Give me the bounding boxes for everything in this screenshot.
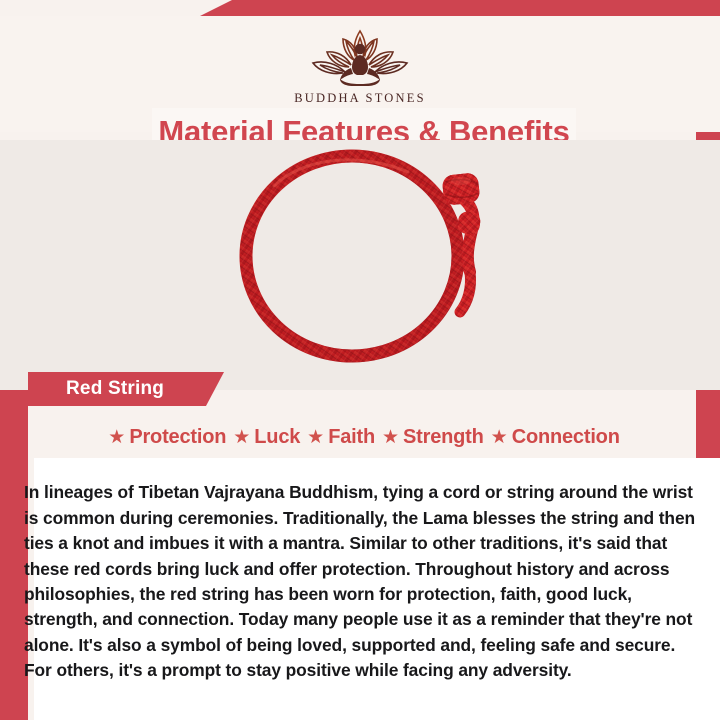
- material-label-banner: Red String: [28, 372, 224, 406]
- benefit-item-luck: ★ Luck: [233, 426, 300, 449]
- benefit-item-strength: ★ Strength: [382, 426, 484, 449]
- brand-name: BUDDHA STONES: [0, 91, 720, 106]
- product-image-panel: [0, 140, 720, 390]
- lotus-meditation-icon: [299, 22, 421, 90]
- benefits-list: ★ Protection ★ Luck ★ Faith ★ Strength ★…: [34, 418, 694, 456]
- benefit-label: Luck: [254, 426, 300, 449]
- benefit-label: Protection: [129, 426, 226, 449]
- benefit-label: Faith: [328, 426, 375, 449]
- brand-logo: BUDDHA STONES: [0, 22, 720, 106]
- star-icon: ★: [491, 428, 508, 447]
- benefit-item-protection: ★ Protection: [108, 426, 226, 449]
- star-icon: ★: [108, 428, 125, 447]
- benefit-item-connection: ★ Connection: [491, 426, 620, 449]
- bracelet-knot: [442, 172, 481, 206]
- description-panel: In lineages of Tibetan Vajrayana Buddhis…: [34, 458, 720, 720]
- benefit-item-faith: ★ Faith: [307, 426, 375, 449]
- poster-header: BUDDHA STONES Material Features & Benefi…: [0, 16, 720, 132]
- infographic-poster: BUDDHA STONES Material Features & Benefi…: [0, 0, 720, 720]
- benefit-label: Connection: [512, 426, 620, 449]
- benefit-label: Strength: [403, 426, 484, 449]
- material-label: Red String: [66, 378, 164, 400]
- star-icon: ★: [233, 428, 250, 447]
- red-string-bracelet-image: [222, 138, 502, 378]
- star-icon: ★: [382, 428, 399, 447]
- description-text: In lineages of Tibetan Vajrayana Buddhis…: [24, 480, 696, 683]
- star-icon: ★: [307, 428, 324, 447]
- top-red-band: [0, 0, 720, 16]
